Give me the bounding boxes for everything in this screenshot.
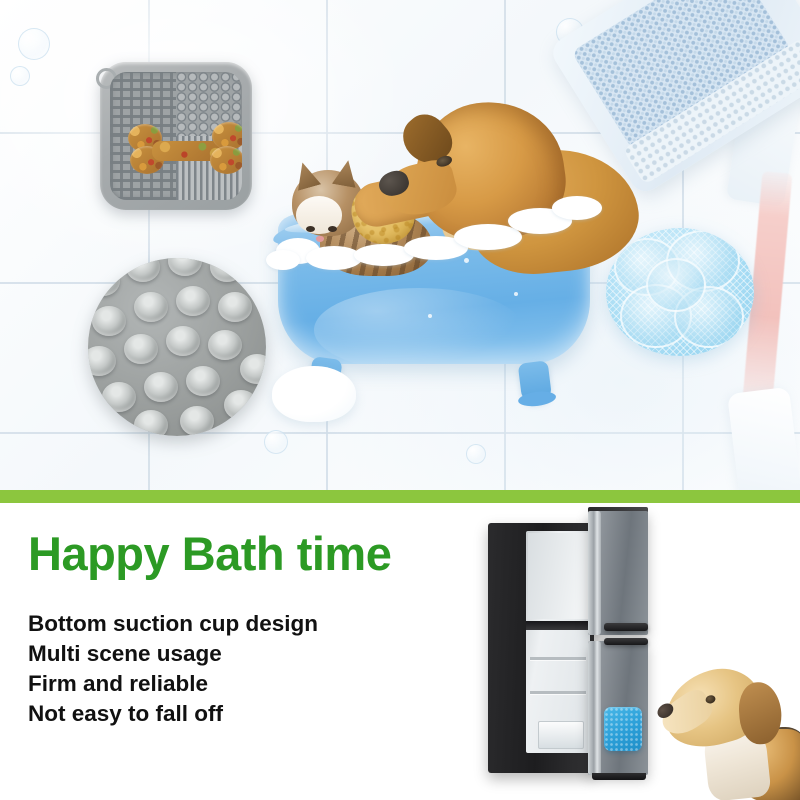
page-title: Happy Bath time bbox=[28, 530, 391, 577]
soap-foam bbox=[266, 250, 300, 270]
bathtub-foot-right bbox=[518, 360, 553, 403]
fridge-shelf bbox=[530, 691, 586, 694]
suction-cup-icon bbox=[208, 330, 242, 360]
suction-cup-icon bbox=[166, 326, 200, 356]
soap-bubble-icon bbox=[466, 444, 486, 464]
soap-foam bbox=[552, 196, 602, 220]
feature-item: Firm and reliable bbox=[28, 669, 318, 699]
suction-cup-icon bbox=[134, 292, 168, 322]
bone-lobe bbox=[210, 146, 242, 174]
suction-cup-icon bbox=[218, 292, 252, 322]
suction-cup-icon bbox=[92, 306, 126, 336]
feature-item: Not easy to fall off bbox=[28, 699, 318, 729]
fridge-door-hinge-top bbox=[588, 511, 601, 635]
suction-cup-icon bbox=[134, 410, 168, 436]
product-image-canvas: Happy Bath time Bottom suction cup desig… bbox=[0, 0, 800, 800]
green-divider-bar bbox=[0, 490, 800, 503]
fridge-freezer-handle[interactable] bbox=[604, 623, 648, 631]
beagle-head bbox=[656, 659, 771, 757]
water-speck bbox=[428, 314, 432, 318]
fridge-shelf bbox=[530, 657, 586, 660]
soap-foam bbox=[306, 246, 362, 270]
feature-item: Bottom suction cup design bbox=[28, 609, 318, 639]
suction-cup-icon bbox=[180, 406, 214, 436]
fridge-interior bbox=[526, 531, 590, 753]
cat-eye-right bbox=[328, 226, 337, 232]
bathtub-gloss bbox=[314, 288, 524, 372]
bone-shaped-food-paste bbox=[128, 124, 242, 176]
soap-foam bbox=[454, 224, 522, 250]
fridge-door-hinge-bottom bbox=[588, 641, 601, 775]
grey-lick-mat bbox=[100, 62, 252, 210]
lick-mat-texture-area bbox=[110, 72, 242, 200]
beagle-dog bbox=[648, 665, 800, 800]
cat-face bbox=[296, 196, 342, 234]
suction-cup-icon bbox=[126, 258, 160, 282]
freezer-compartment bbox=[528, 533, 588, 619]
blue-lick-mat-on-fridge bbox=[604, 707, 642, 751]
feature-item: Multi scene usage bbox=[28, 639, 318, 669]
suction-cup-icon bbox=[168, 258, 202, 276]
fridge-crisper-bin bbox=[538, 721, 584, 749]
suction-cup-icon bbox=[88, 346, 116, 376]
soap-bubble-icon bbox=[10, 66, 30, 86]
cat-nose bbox=[316, 236, 324, 242]
water-speck bbox=[464, 258, 469, 263]
soap-bubble-icon bbox=[18, 28, 50, 60]
suction-cup-disc bbox=[88, 258, 266, 436]
white-towel-lower bbox=[727, 387, 800, 490]
suction-cup-icon bbox=[88, 266, 120, 296]
suction-cup-icon bbox=[176, 286, 210, 316]
suction-cup-icon bbox=[240, 354, 266, 384]
suction-cup-icon bbox=[102, 382, 136, 412]
blue-loofah bbox=[606, 228, 754, 356]
soap-foam-pile bbox=[272, 366, 356, 422]
fridge-main-handle[interactable] bbox=[604, 638, 648, 645]
bathroom-scene-panel bbox=[0, 0, 800, 490]
cat-eye-left bbox=[306, 226, 315, 232]
feature-list: Bottom suction cup design Multi scene us… bbox=[28, 609, 318, 729]
fridge-compartment-divider bbox=[526, 621, 590, 630]
refrigerator bbox=[488, 511, 648, 781]
suction-cup-icon bbox=[186, 366, 220, 396]
suction-cup-icon bbox=[144, 372, 178, 402]
feature-panel: Happy Bath time Bottom suction cup desig… bbox=[0, 503, 800, 800]
suction-cup-icon bbox=[224, 390, 258, 420]
soap-bubble-icon bbox=[264, 430, 288, 454]
loofah-ruffle bbox=[646, 258, 706, 312]
fridge-base bbox=[592, 773, 646, 780]
suction-cup-icon bbox=[124, 334, 158, 364]
water-speck bbox=[514, 292, 518, 296]
beagle-eye bbox=[705, 694, 717, 704]
